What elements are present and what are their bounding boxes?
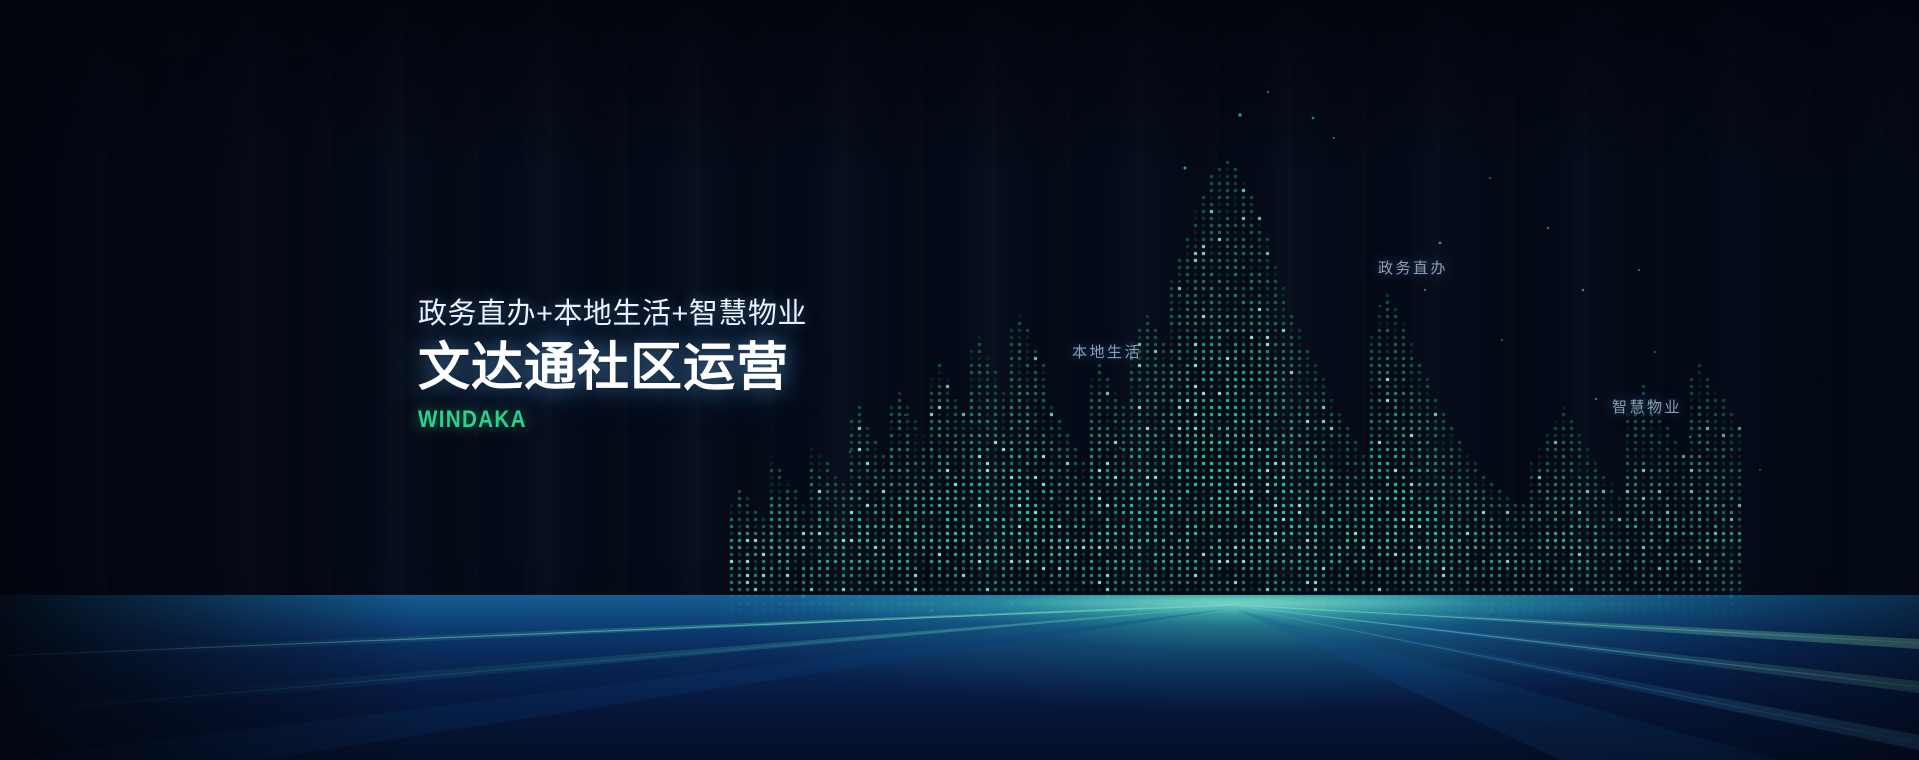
hero-copy-block: 政务直办+本地生活+智慧物业 文达通社区运营 WINDAKA xyxy=(418,296,807,434)
hero-headline: 文达通社区运营 xyxy=(418,341,807,396)
city-label-local-life: 本地生活 xyxy=(1072,341,1142,362)
perspective-rays xyxy=(0,595,1919,760)
city-label-government: 政务直办 xyxy=(1378,257,1448,278)
hero-banner: 政务直办 本地生活 智慧物业 政务直办+本地生活+智慧物业 文达通社区运营 WI… xyxy=(0,0,1919,760)
ground-plane xyxy=(0,595,1919,760)
hero-tagline: 政务直办+本地生活+智慧物业 xyxy=(418,296,807,333)
brand-wordmark: WINDAKA xyxy=(418,406,752,434)
city-label-smart-property: 智慧物业 xyxy=(1612,396,1682,417)
